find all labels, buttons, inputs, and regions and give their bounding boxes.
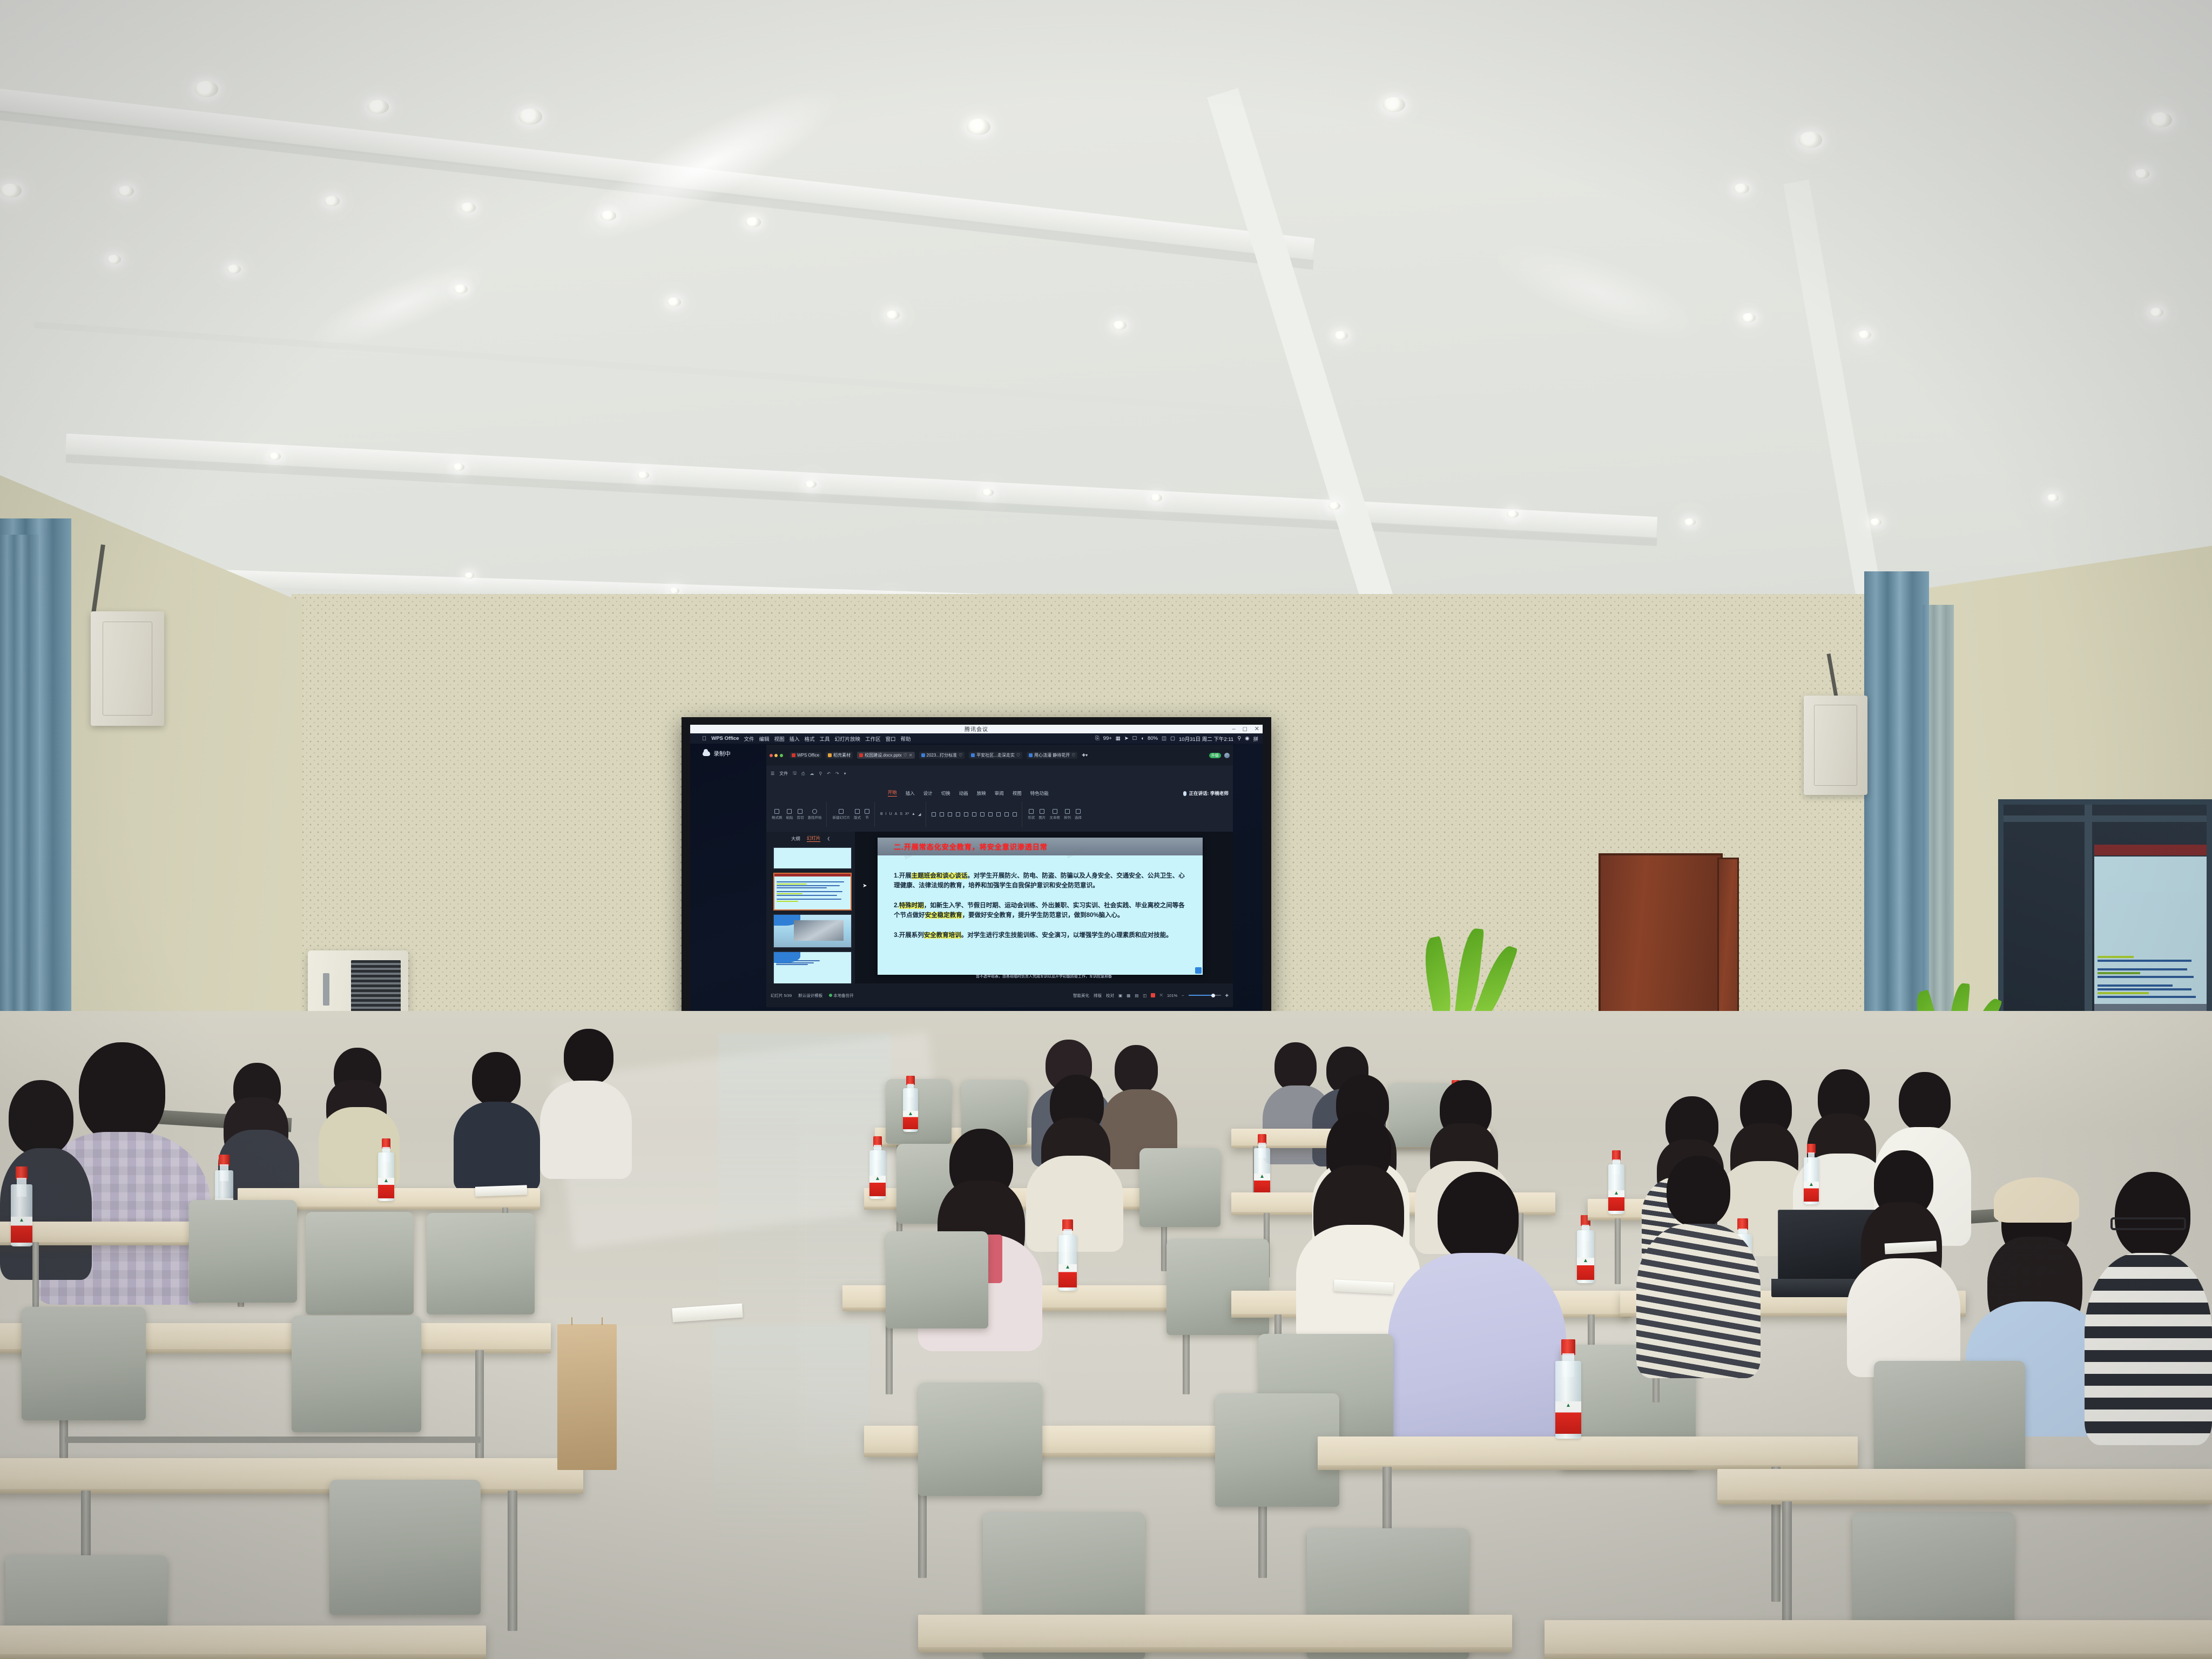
wall-speaker-left — [91, 611, 164, 726]
menu-window[interactable]: 窗口 — [886, 735, 896, 743]
menu-format[interactable]: 格式 — [805, 735, 815, 743]
chevron-down-icon[interactable]: ▾ — [844, 771, 846, 776]
water-bottle — [1577, 1215, 1594, 1283]
desk — [1717, 1469, 2212, 1505]
speaking-indicator: 正在讲话: 李楠老师 — [1183, 790, 1229, 797]
wps-ribbon-tabs[interactable]: 开始 插入 设计 切换 动画 放映 审阅 视图 特色功能 正在讲话: 李楠老师 — [766, 781, 1233, 797]
cloud-recording-icon — [703, 751, 710, 756]
hamburger-icon[interactable]: ☰ — [771, 771, 774, 776]
attendee — [2085, 1172, 2212, 1442]
ceiling-downlight — [227, 265, 241, 274]
ribbon-tab-home[interactable]: 开始 — [888, 789, 897, 797]
bold-button[interactable]: B — [880, 812, 883, 816]
ribbon-group-insert[interactable]: 形状 图片 文本框 排列 — [1028, 802, 1087, 827]
ceiling-downlight — [1328, 502, 1340, 510]
ceiling-downlight — [1112, 321, 1127, 330]
wps-titlebar[interactable]: WPS Office 稻壳素材 校园建设.docx.pptx ♡ ✕ — [766, 745, 1233, 766]
arrange-icon — [1065, 809, 1070, 814]
speaker-notes[interactable]: 暂不选早班表，由各班临时负责人完成军训以及开学初能防疫工作，军训应急预备 — [878, 970, 1210, 983]
pptx-file-icon — [921, 753, 925, 757]
slide-thumbnail-selected[interactable]: 5 — [773, 873, 852, 911]
menu-insert[interactable]: 插入 — [790, 735, 800, 743]
chair — [292, 1316, 421, 1432]
attendee — [1636, 1156, 1761, 1372]
paragraph-number: 1. — [894, 873, 899, 879]
recording-indicator: 录制中 — [703, 750, 731, 758]
screen-share-tray-icon[interactable]: ▦ — [1116, 736, 1121, 741]
shape-button[interactable]: 形状 — [1028, 809, 1035, 820]
text-direction-icon[interactable] — [1013, 812, 1017, 817]
search-icon[interactable]: ⚲ — [1237, 736, 1241, 741]
docer-tab-label: 稻壳素材 — [833, 752, 851, 758]
document-tab-0[interactable]: 校园建设.docx.pptx ♡ ✕ — [857, 752, 914, 759]
font-effect-button[interactable]: A — [895, 812, 898, 816]
align-left-icon[interactable] — [964, 812, 968, 817]
wps-editor-body: 大纲 幻灯片 ❮ 4 5 — [766, 832, 1233, 984]
save-icon[interactable]: 🖫 — [793, 770, 797, 778]
menu-slideshow[interactable]: 幻灯片放映 — [835, 735, 861, 743]
highlight-color-button[interactable]: ◢ — [918, 812, 921, 817]
textbox-button[interactable]: 文本框 — [1049, 809, 1060, 820]
wps-ribbon[interactable]: 格式刷 粘贴 剪切 查找开始 — [766, 797, 1233, 831]
ribbon-tab-view[interactable]: 视图 — [1013, 790, 1022, 797]
minimize-icon[interactable] — [774, 754, 778, 757]
input-source-label[interactable]: 拼 — [1253, 735, 1258, 743]
avatar[interactable] — [1224, 753, 1230, 758]
ceiling-downlight — [454, 285, 468, 294]
backup-label: 本地备份开 — [833, 993, 854, 998]
desk — [918, 1615, 1512, 1653]
picture-button[interactable]: 图片 — [1038, 809, 1046, 820]
search-icon — [812, 809, 817, 814]
menu-app-name[interactable]: WPS Office — [711, 736, 739, 741]
ribbon-group-clipboard[interactable]: 格式刷 粘贴 剪切 查找开始 — [772, 802, 827, 827]
maximize-icon[interactable] — [780, 754, 783, 757]
arrange-button[interactable]: 排列 — [1064, 809, 1071, 820]
increase-indent-icon[interactable] — [956, 812, 960, 817]
format-painter-icon — [774, 809, 779, 814]
status-dot-icon — [829, 994, 832, 997]
slide-paragraph-1: 1.开展主题班会和谈心谈话。对学生开展防火、防电、防盗、防骗以及人身安全、交通安… — [894, 872, 1186, 891]
pptx-file-icon — [971, 753, 975, 757]
align-right-icon[interactable] — [980, 812, 984, 817]
reading-view-icon[interactable]: ▤ — [1135, 993, 1138, 998]
slide-paragraph-3: 3.开展系列安全教育培训。对学生进行求生技能训练、安全演习，以增强学生的心理素质… — [894, 931, 1186, 941]
mouse-cursor-icon: ➤ — [862, 883, 867, 889]
select-icon — [1076, 809, 1081, 814]
ribbon-group-paragraph[interactable] — [932, 802, 1022, 827]
photograph-scene: 腾讯会议 – ◻ ✕  WPS Office 文件 编辑 视图 插入 格式 工… — [0, 0, 2212, 1659]
sorter-view-icon[interactable]: ▦ — [1127, 993, 1130, 998]
ceiling-downlight — [1382, 97, 1405, 112]
ceiling-downlight — [1742, 313, 1756, 322]
pin-icon[interactable]: ♡ — [1071, 753, 1075, 758]
wifi-icon[interactable]: ◖ — [1141, 736, 1144, 741]
numbered-list-icon[interactable] — [940, 812, 944, 817]
water-bottle — [903, 1076, 918, 1132]
pptx-file-icon — [859, 753, 863, 757]
print-icon[interactable]: ⎙ — [801, 771, 805, 777]
window-mullion-horizontal — [2004, 815, 2207, 822]
cloud-icon[interactable]: ☁ — [810, 771, 814, 776]
ceiling-downlight — [453, 463, 464, 471]
ceiling-downlight — [367, 100, 389, 114]
paragraph-number: 3. — [894, 932, 899, 939]
menu-edit[interactable]: 编辑 — [759, 735, 769, 743]
desk-leg — [508, 1491, 517, 1631]
superscript-button[interactable]: X² — [905, 812, 909, 816]
ceiling-downlight — [805, 481, 817, 488]
picture-icon — [1040, 809, 1044, 814]
bluetooth-icon[interactable]: ➤ — [1124, 736, 1129, 741]
ceiling-downlight — [2149, 112, 2172, 127]
underline-button[interactable]: U — [889, 812, 892, 816]
decorative-blob — [774, 915, 800, 926]
desk — [0, 1626, 486, 1659]
highlighted-text: 安全教育培训 — [924, 932, 961, 939]
water-bottle — [1254, 1134, 1270, 1197]
chair — [1139, 1148, 1220, 1227]
section-button[interactable]: 节 — [865, 809, 869, 820]
line-spacing-icon[interactable] — [996, 812, 1001, 817]
desk-leg — [32, 1242, 39, 1307]
chair — [886, 1231, 988, 1328]
layout-button[interactable]: 版式 — [854, 809, 861, 820]
paste-button[interactable]: 粘贴 — [786, 809, 793, 820]
document-tab-2[interactable]: 平安社区...走深走实 ♡ — [969, 752, 1022, 759]
chair — [427, 1213, 535, 1314]
minimize-icon[interactable]: – — [1232, 726, 1236, 732]
fit-to-window-icon[interactable]: ⛌ — [1159, 993, 1163, 998]
normal-view-icon[interactable]: ▣ — [1118, 993, 1122, 998]
thumbnail-view-tabs[interactable]: 大纲 幻灯片 ❮ — [766, 832, 855, 846]
pin-icon[interactable]: ♡ — [959, 753, 962, 758]
meeting-title-text: 腾讯会议 — [965, 725, 988, 733]
ceiling-downlight — [464, 572, 474, 579]
paper-bag — [557, 1324, 617, 1470]
pin-icon[interactable]: ♡ — [1016, 753, 1020, 758]
collapse-icon[interactable]: ❮ — [827, 837, 830, 841]
ceiling-downlight — [1334, 331, 1348, 340]
ceiling-downlight — [2047, 494, 2059, 502]
chair — [22, 1307, 146, 1420]
italic-button[interactable]: I — [886, 812, 887, 816]
ceiling-downlight — [118, 186, 134, 197]
water-bottle — [11, 1166, 32, 1246]
wps-quick-access-toolbar[interactable]: ☰ 文件 🖫 ⎙ ☁ ⚲ ↶ ↷ ▾ — [766, 766, 1233, 781]
microphone-icon — [1183, 791, 1186, 796]
ceiling-downlight — [0, 184, 22, 198]
slide-thumbnail[interactable]: 7 — [773, 952, 852, 984]
menu-workspace[interactable]: 工作区 — [865, 735, 881, 743]
baseball-cap — [1994, 1177, 2079, 1223]
slide-counter: 幻灯片 5/39 — [771, 993, 792, 999]
justify-icon[interactable] — [988, 812, 993, 817]
ceiling-downlight — [1734, 184, 1749, 194]
water-bottle — [1058, 1219, 1077, 1291]
water-bottle — [1555, 1339, 1581, 1439]
document-tab-1[interactable]: 2023...打分标准 ♡ — [919, 752, 965, 759]
zoom-slider[interactable] — [1189, 995, 1221, 996]
select-button[interactable]: 选择 — [1075, 809, 1082, 820]
attendee — [1847, 1150, 1960, 1366]
water-bottle — [1608, 1150, 1624, 1214]
ribbon-tab-review[interactable]: 审阅 — [995, 790, 1004, 797]
pptx-file-icon — [1029, 753, 1033, 757]
ceiling-downlight — [1684, 518, 1696, 526]
ribbon-tab-design[interactable]: 设计 — [923, 790, 933, 797]
ceiling-downlight — [1150, 494, 1162, 502]
ceiling-downlight — [1870, 518, 1881, 526]
slide-paragraph-2: 2.特殊时期，如新生入学、节假日时期、运动会训练、外出兼职、实习实训、社会实践、… — [894, 901, 1186, 921]
menu-help[interactable]: 帮助 — [901, 735, 911, 743]
slide-thumbnail[interactable]: 4 — [773, 847, 852, 869]
ribbon-tab-transition[interactable]: 切换 — [941, 790, 950, 797]
desk — [1545, 1620, 2212, 1659]
tab-outline[interactable]: 大纲 — [791, 835, 800, 842]
wps-home-tab[interactable]: WPS Office — [790, 752, 821, 758]
water-bottle — [378, 1138, 394, 1201]
zoom-slider-knob[interactable] — [1211, 994, 1215, 997]
battery-level[interactable]: 80% — [1148, 736, 1158, 741]
cut-button[interactable]: 剪切 — [797, 809, 804, 820]
chair — [306, 1212, 414, 1314]
ceiling-downlight — [518, 109, 542, 125]
window-reflection-title — [2094, 845, 2209, 855]
apple-logo-icon[interactable]:  — [702, 736, 706, 742]
screenshot-icon[interactable]: ⎘ — [1095, 736, 1100, 741]
notes-view-icon[interactable]: ◫ — [1143, 993, 1147, 998]
meeting-window-controls[interactable]: – ◻ ✕ — [1232, 725, 1259, 733]
new-slide-button[interactable]: 新建幻灯片 — [832, 809, 850, 820]
meeting-window-title: 腾讯会议 — [690, 725, 1263, 733]
record-icon[interactable] — [1151, 993, 1155, 997]
thumbnail-list[interactable]: 4 5 — [766, 846, 855, 984]
air-conditioner-vent — [351, 960, 401, 1012]
shapes-icon — [1029, 809, 1034, 814]
thumbnail-title-bar — [774, 874, 851, 876]
new-slide-icon — [839, 809, 844, 814]
document-tab-3-label: 用心浇灌 静待花开 — [1034, 752, 1070, 758]
ceiling-downlight — [667, 298, 681, 307]
wps-home-tab-label: WPS Office — [797, 753, 819, 758]
ribbon-group-font[interactable]: B I U A S X² ▲ ◢ — [880, 802, 926, 827]
plus-icon[interactable]: ✚ — [1225, 993, 1229, 998]
close-icon[interactable] — [770, 754, 773, 757]
document-tab-2-label: 平安社区...走深走实 — [976, 752, 1015, 758]
undo-icon[interactable]: ↶ — [827, 771, 831, 776]
maximize-icon[interactable]: ◻ — [1243, 725, 1247, 732]
water-bottle — [1804, 1144, 1819, 1204]
zoom-level[interactable]: 101% — [1167, 993, 1177, 998]
ceiling-downlight — [324, 196, 340, 206]
notebook — [475, 1185, 528, 1196]
ribbon-tab-features[interactable]: 特色功能 — [1030, 790, 1049, 797]
screen-reflection-on-floor — [713, 1324, 869, 1551]
ceiling-downlight — [637, 471, 649, 479]
ceiling-downlight — [601, 211, 616, 221]
attendee — [540, 1029, 632, 1175]
slide-thumbnail-pane[interactable]: 大纲 幻灯片 ❮ 4 5 — [766, 832, 855, 984]
slide-body: 1.开展主题班会和谈心谈话。对学生开展防火、防电、防盗、防骗以及人身安全、交通安… — [878, 855, 1203, 941]
chair — [189, 1200, 297, 1303]
bullet-list-icon[interactable] — [932, 812, 936, 817]
find-start-button[interactable]: 查找开始 — [807, 809, 821, 820]
ceiling-downlight — [967, 119, 990, 135]
ceiling-downlight — [982, 489, 994, 496]
wps-logo-icon — [792, 753, 795, 757]
redo-icon[interactable]: ↷ — [835, 771, 839, 776]
close-icon[interactable]: ✕ — [909, 753, 913, 758]
scissors-icon — [798, 809, 802, 814]
notes-text: 暂不选早班表，由各班临时负责人完成军训以及开学初能防疫工作，军训应急预备 — [976, 974, 1112, 979]
ribbon-tab-animation[interactable]: 动画 — [959, 790, 968, 797]
menu-view[interactable]: 视图 — [774, 735, 784, 743]
template-name[interactable]: 默认设计模板 — [798, 993, 822, 999]
document-tab-3[interactable]: 用心浇灌 静待花开 ♡ — [1027, 752, 1077, 759]
slide-title-bar: 二.开展常态化安全教育，将安全意识渗透日常 — [878, 838, 1203, 855]
backup-status[interactable]: 本地备份开 — [829, 993, 854, 999]
recording-label: 录制中 — [713, 750, 731, 758]
battery-icon[interactable]: ◫ — [1162, 736, 1166, 741]
highlighted-text: 特殊时期 — [899, 902, 924, 909]
text-segment: 。对学生进行求生技能训练、安全演习，以增强学生的心理素质和应对技能。 — [961, 932, 1172, 939]
format-painter-button[interactable]: 格式刷 — [772, 809, 783, 820]
ceiling-downlight — [1798, 132, 1822, 148]
ceiling-downlight — [1858, 331, 1871, 339]
layout-icon — [855, 809, 860, 814]
attendee — [454, 1052, 540, 1187]
desk-crossbar — [65, 1437, 481, 1443]
document-tab-1-label: 2023...打分标准 — [927, 752, 957, 758]
projection-screen[interactable]: 腾讯会议 – ◻ ✕  WPS Office 文件 编辑 视图 插入 格式 工… — [690, 725, 1263, 1049]
highlighted-text: 安全稳定教育 — [925, 912, 962, 919]
pin-icon[interactable]: ♡ — [903, 753, 907, 758]
ceiling-downlight — [670, 588, 679, 594]
notification-badge[interactable]: 99+ — [1103, 736, 1112, 741]
text-segment: 开展 — [899, 873, 912, 879]
menu-file[interactable]: 文件 — [744, 735, 754, 743]
chair — [918, 1382, 1042, 1496]
docer-tab[interactable]: 稻壳素材 — [826, 752, 853, 759]
ceiling-downlight — [886, 311, 900, 320]
menubar-clock[interactable]: 10月31日 周二 下午2:11 — [1179, 735, 1233, 743]
desk — [0, 1458, 583, 1494]
close-icon[interactable]: ✕ — [1255, 725, 1259, 732]
wps-office-window[interactable]: WPS Office 稻壳素材 校园建设.docx.pptx ♡ ✕ — [766, 745, 1233, 1007]
ceiling-downlight — [2149, 308, 2163, 317]
ribbon-tab-slideshow[interactable]: 放映 — [977, 790, 986, 797]
minus-icon[interactable]: − — [1182, 993, 1184, 998]
align-center-icon[interactable] — [972, 812, 976, 817]
window-slide-reflection — [2094, 857, 2208, 1024]
ceiling-downlight — [194, 81, 218, 97]
tab-slides[interactable]: 幻灯片 — [807, 835, 821, 842]
ime-icon[interactable]: ▢ — [1170, 736, 1175, 741]
chair — [329, 1480, 481, 1615]
thumbnail-text-block — [774, 878, 851, 906]
eyeglasses — [2110, 1217, 2186, 1230]
desk-leg — [1615, 1218, 1621, 1284]
ceiling-downlight — [745, 217, 761, 227]
ribbon-group-slides[interactable]: 新建幻灯片 版式 节 — [832, 802, 875, 827]
thumbnail-image — [774, 915, 851, 947]
macos-menu-bar[interactable]:  WPS Office 文件 编辑 视图 插入 格式 工具 幻灯片放映 工作区… — [690, 733, 1263, 744]
ceiling-downlight — [1507, 510, 1519, 518]
paragraph-number: 2. — [894, 902, 899, 909]
ribbon-tab-insert[interactable]: 插入 — [906, 790, 915, 797]
window-traffic-lights[interactable] — [770, 754, 783, 757]
document-tab-0-label: 校园建设.docx.pptx — [865, 752, 901, 758]
water-bottle — [869, 1136, 886, 1199]
ceiling-downlight — [107, 255, 121, 264]
slide-thumbnail[interactable]: 6 — [773, 914, 852, 948]
chair — [1166, 1239, 1269, 1335]
strikethrough-button[interactable]: S — [900, 812, 902, 816]
slide-title: 二.开展常态化安全教育，将安全意识渗透日常 — [894, 841, 1048, 852]
ceiling-downlight — [460, 203, 476, 213]
wall-speaker-right — [1804, 696, 1867, 795]
text-segment: 开展系列 — [899, 932, 924, 939]
menu-tools[interactable]: 工具 — [820, 735, 830, 743]
highlighted-text: 主题班会和谈心谈话 — [912, 873, 968, 879]
projection-screen-bezel: 腾讯会议 – ◻ ✕  WPS Office 文件 编辑 视图 插入 格式 工… — [682, 717, 1271, 1057]
decrease-indent-icon[interactable] — [948, 812, 952, 817]
typesetting-button[interactable]: 排版 — [1094, 993, 1102, 999]
columns-icon[interactable] — [1004, 812, 1009, 817]
file-menu-button[interactable]: 文件 — [779, 771, 788, 777]
air-conditioner-display — [323, 973, 329, 1006]
section-icon — [865, 809, 869, 814]
proofread-button[interactable]: 校对 — [1106, 993, 1114, 999]
paste-icon — [787, 809, 792, 814]
control-center-icon[interactable]: ◉ — [1245, 736, 1249, 741]
new-tab-icon[interactable]: ✚▾ — [1082, 753, 1088, 758]
font-color-button[interactable]: ▲ — [912, 812, 915, 816]
speaking-label: 正在讲话: 李楠老师 — [1189, 790, 1229, 797]
attendee — [1388, 1172, 1566, 1453]
slide-canvas-area[interactable]: ➤ 二.开展常态化安全教育，将安全意识渗透日常 1.开展主题班会和谈心谈话。对学… — [855, 832, 1233, 984]
docer-icon — [828, 753, 832, 757]
upgrade-button[interactable]: 升级 — [1209, 753, 1221, 758]
textbox-icon — [1053, 809, 1057, 814]
wps-status-bar[interactable]: 幻灯片 5/39 默认设计模板 本地备份开 智能美化 排版 校对 ▣ ▦ ▤ ◫ — [766, 983, 1233, 1007]
ceiling-downlight — [2134, 169, 2149, 179]
current-slide[interactable]: 二.开展常态化安全教育，将安全意识渗透日常 1.开展主题班会和谈心谈话。对学生开… — [878, 838, 1203, 975]
desk — [1318, 1437, 1858, 1470]
text-segment: ，要做好安全教育，提升学生防范意识，做到80%脑入心。 — [962, 912, 1124, 919]
smart-beautify-button[interactable]: 智能美化 — [1073, 993, 1089, 999]
ceiling-downlight — [269, 453, 281, 460]
airplay-icon[interactable]: ☐ — [1132, 736, 1137, 741]
search-icon[interactable]: ⚲ — [819, 771, 822, 776]
